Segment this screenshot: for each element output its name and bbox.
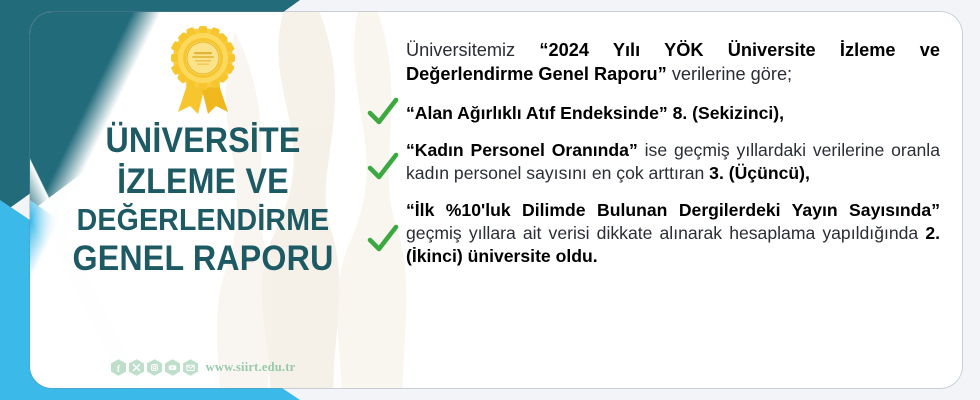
facebook-icon[interactable]: f xyxy=(111,359,126,376)
intro-paragraph: Üniversitemiz “2024 Yılı YÖK Üniversite … xyxy=(406,38,940,86)
green-check-icon xyxy=(366,151,400,185)
intro-post: verilerine göre; xyxy=(667,64,792,84)
youtube-icon[interactable] xyxy=(165,359,180,376)
title-line-1: ÜNİVERSİTE xyxy=(65,123,341,159)
page-title: ÜNİVERSİTE İZLEME VE DEĞERLENDİRME GENEL… xyxy=(53,118,353,282)
bullet-3-tail: üniversite oldu. xyxy=(468,246,598,266)
instagram-icon[interactable] xyxy=(147,359,162,376)
list-item: “Kadın Personel Oranında” ise geçmiş yıl… xyxy=(406,139,940,185)
footer-bar: f xyxy=(38,359,368,376)
list-item: “İlk %10'luk Dilimde Bulunan Dergilerdek… xyxy=(406,199,940,268)
poster-root: ÜNİVERSİTE İZLEME VE DEĞERLENDİRME GENEL… xyxy=(0,0,980,400)
intro-pre: Üniversitemiz xyxy=(406,40,539,60)
bullet-3-plain: geçmiş yıllara ait verisi dikkate alınar… xyxy=(406,223,925,243)
bullet-1-rank: 8. (Sekizinci), xyxy=(673,103,784,123)
bullet-1-quoted: “Alan Ağırlıklı Atıf Endeksinde” xyxy=(406,103,668,123)
x-twitter-icon[interactable] xyxy=(129,359,144,376)
website-url[interactable]: www.siirt.edu.tr xyxy=(206,360,296,375)
right-column: Üniversitemiz “2024 Yılı YÖK Üniversite … xyxy=(370,12,962,388)
content-card: ÜNİVERSİTE İZLEME VE DEĞERLENDİRME GENEL… xyxy=(30,12,962,388)
bullet-2-rank: 3. (Üçüncü), xyxy=(709,163,810,183)
award-ribbon-icon xyxy=(166,24,240,116)
green-check-icon xyxy=(366,223,400,257)
email-icon[interactable] xyxy=(183,359,198,376)
title-line-3: DEĞERLENDİRME xyxy=(65,204,341,236)
left-column: ÜNİVERSİTE İZLEME VE DEĞERLENDİRME GENEL… xyxy=(38,12,368,388)
bullet-2-quoted: “Kadın Personel Oranında” xyxy=(406,140,638,160)
list-item: “Alan Ağırlıklı Atıf Endeksinde” 8. (Sek… xyxy=(406,102,940,125)
title-line-4: GENEL RAPORU xyxy=(65,241,341,277)
green-check-icon xyxy=(366,96,400,130)
title-line-2: İZLEME VE xyxy=(65,164,341,200)
bullet-3-quoted: “İlk %10'luk Dilimde Bulunan Dergilerdek… xyxy=(406,200,940,220)
